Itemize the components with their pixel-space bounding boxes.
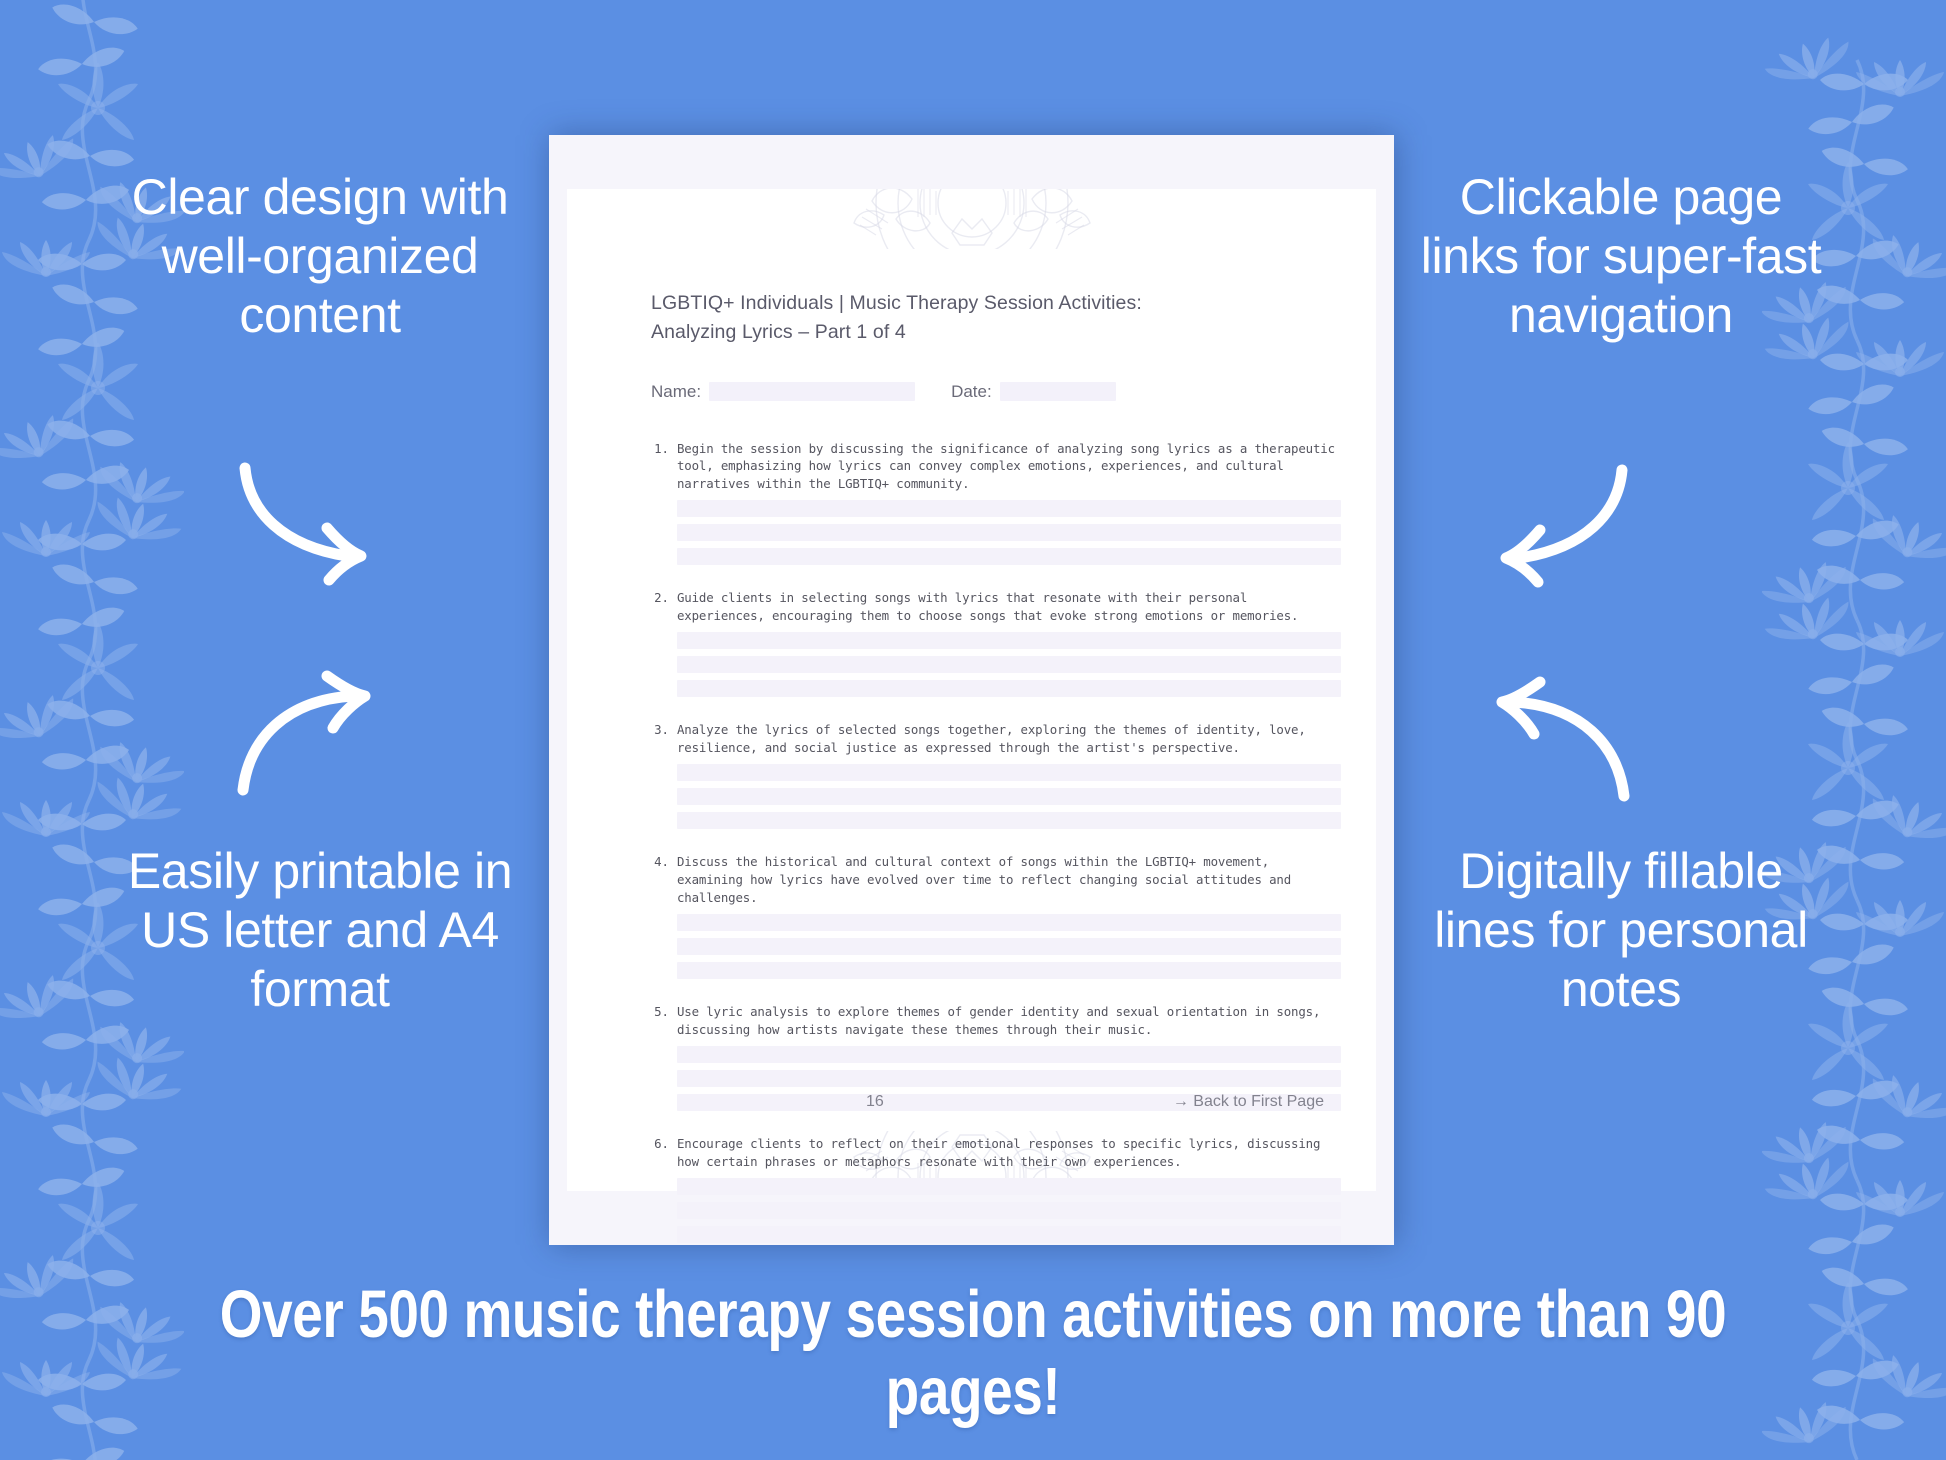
activity-body: Analyze the lyrics of selected songs tog… — [677, 721, 1341, 850]
date-label: Date: — [951, 382, 992, 402]
activity-text: Use lyric analysis to explore themes of … — [677, 1003, 1341, 1039]
fillable-line[interactable] — [677, 656, 1341, 673]
activity-number: 4. — [651, 853, 677, 1000]
activity-item: 3.Analyze the lyrics of selected songs t… — [651, 721, 1341, 850]
fillable-line[interactable] — [677, 548, 1341, 565]
fillable-lines-group — [677, 1178, 1341, 1243]
fillable-line[interactable] — [677, 764, 1341, 781]
promo-bottom-right: Digitally fillable lines for personal no… — [1416, 842, 1826, 1019]
activity-spacer — [677, 1118, 1341, 1132]
activities-list: 1.Begin the session by discussing the si… — [651, 440, 1341, 1246]
activity-text: Analyze the lyrics of selected songs tog… — [677, 721, 1341, 757]
curved-arrow-icon-top-right — [1472, 462, 1632, 587]
fillable-line[interactable] — [677, 962, 1341, 979]
fillable-line[interactable] — [677, 1046, 1341, 1063]
activity-body: Begin the session by discussing the sign… — [677, 440, 1341, 587]
fillable-line[interactable] — [677, 500, 1341, 517]
curved-arrow-icon-top-left — [235, 460, 385, 585]
activity-number: 3. — [651, 721, 677, 850]
curved-arrow-icon-bottom-right — [1472, 686, 1632, 806]
fillable-line[interactable] — [677, 524, 1341, 541]
activity-text: Discuss the historical and cultural cont… — [677, 853, 1341, 907]
worksheet-page[interactable]: LGBTIQ+ Individuals | Music Therapy Sess… — [549, 135, 1394, 1245]
date-input[interactable] — [1000, 382, 1116, 401]
activity-item: 4.Discuss the historical and cultural co… — [651, 853, 1341, 1000]
bottom-banner-text: Over 500 music therapy session activitie… — [175, 1276, 1771, 1430]
fillable-line[interactable] — [677, 812, 1341, 829]
activity-item: 5.Use lyric analysis to explore themes o… — [651, 1003, 1341, 1132]
activity-body: Use lyric analysis to explore themes of … — [677, 1003, 1341, 1132]
activity-spacer — [677, 986, 1341, 1000]
activity-item: 6.Encourage clients to reflect on their … — [651, 1135, 1341, 1245]
back-to-first-page-link[interactable]: → Back to First Page — [1173, 1093, 1324, 1111]
fillable-line[interactable] — [677, 788, 1341, 805]
name-label: Name: — [651, 382, 701, 402]
activity-text: Guide clients in selecting songs with ly… — [677, 589, 1341, 625]
promo-bottom-left: Easily printable in US letter and A4 for… — [120, 842, 520, 1019]
activity-body: Discuss the historical and cultural cont… — [677, 853, 1341, 1000]
page-number: 16 — [866, 1093, 884, 1111]
fillable-lines-group — [677, 500, 1341, 565]
activity-text: Begin the session by discussing the sign… — [677, 440, 1341, 494]
activity-number: 6. — [651, 1135, 677, 1245]
fillable-line[interactable] — [677, 632, 1341, 649]
worksheet-content-area: LGBTIQ+ Individuals | Music Therapy Sess… — [567, 189, 1376, 1191]
activity-spacer — [677, 836, 1341, 850]
activity-spacer — [677, 704, 1341, 718]
activity-item: 2.Guide clients in selecting songs with … — [651, 589, 1341, 718]
activity-text: Encourage clients to reflect on their em… — [677, 1135, 1341, 1171]
curved-arrow-icon-bottom-left — [235, 680, 385, 800]
worksheet-footer: 16 → Back to First Page — [651, 1093, 1324, 1111]
fillable-line[interactable] — [677, 938, 1341, 955]
fillable-lines-group — [677, 632, 1341, 697]
fillable-lines-group — [677, 914, 1341, 979]
activity-body: Guide clients in selecting songs with ly… — [677, 589, 1341, 718]
activity-spacer — [677, 572, 1341, 586]
promo-top-left: Clear design with well-organized content — [120, 168, 520, 345]
name-input[interactable] — [709, 382, 915, 401]
activity-number: 1. — [651, 440, 677, 587]
activity-number: 2. — [651, 589, 677, 718]
fillable-line[interactable] — [677, 1178, 1341, 1195]
mandala-watermark-icon-top — [762, 189, 1182, 249]
fillable-line[interactable] — [677, 1070, 1341, 1087]
promo-top-right: Clickable page links for super-fast navi… — [1416, 168, 1826, 345]
worksheet-meta-row: Name: Date: — [651, 382, 1341, 402]
fillable-lines-group — [677, 764, 1341, 829]
fillable-line[interactable] — [677, 1202, 1341, 1219]
activity-body: Encourage clients to reflect on their em… — [677, 1135, 1341, 1245]
activity-number: 5. — [651, 1003, 677, 1132]
fillable-line[interactable] — [677, 680, 1341, 697]
activity-item: 1.Begin the session by discussing the si… — [651, 440, 1341, 587]
fillable-line[interactable] — [677, 1226, 1341, 1243]
worksheet-title: LGBTIQ+ Individuals | Music Therapy Sess… — [651, 289, 1341, 348]
fillable-line[interactable] — [677, 914, 1341, 931]
